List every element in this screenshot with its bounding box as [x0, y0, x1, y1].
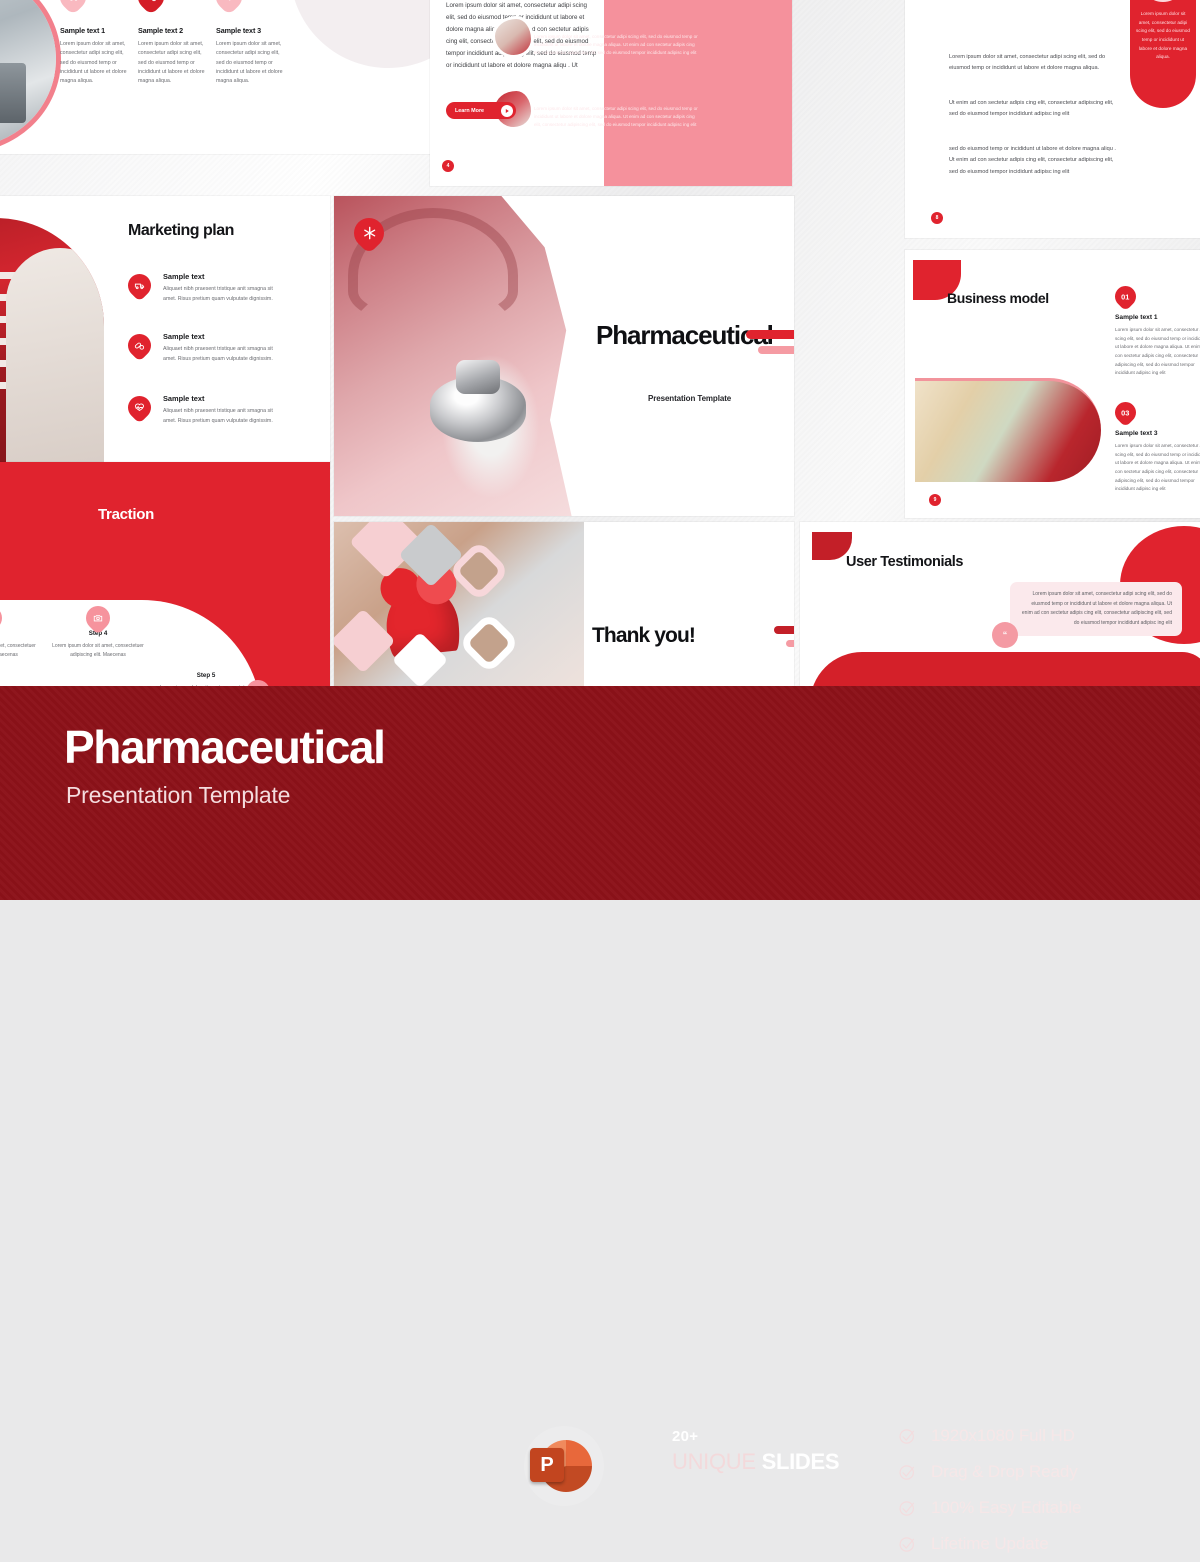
slide-count-number: 20+ [672, 1428, 839, 1445]
feature-row: Drag & Drop Ready [898, 1454, 1081, 1490]
slide-thumbnail-sample-features[interactable]: eiusmod temp or incididunt ut labore et … [0, 0, 440, 154]
step-title: Step 5 [152, 672, 260, 679]
feature-body: Lorem ipsum dolor sit amet, consectetur … [138, 40, 206, 86]
play-arrow-icon [501, 105, 513, 117]
business-item-body: Lorem ipsum dolor sit amet, consectetur … [1115, 326, 1200, 378]
banner-title: Pharmaceutical [64, 720, 384, 774]
check-icon [898, 1427, 917, 1446]
service-title: Service 1 [534, 94, 712, 101]
step-body: Lorem ipsum dolor sit amet, consectetuer… [0, 642, 44, 660]
feature-column: Sample text 3 Lorem ipsum dolor sit amet… [216, 26, 284, 86]
learn-more-button[interactable]: Learn More [446, 102, 516, 119]
business-item-title: Sample text 3 [1115, 430, 1200, 437]
stethoscope-head [430, 376, 526, 442]
traction-step: Step 4 Lorem ipsum dolor sit amet, conse… [44, 630, 152, 660]
bottom-wave-shape [810, 652, 1200, 690]
check-icon [898, 1535, 917, 1554]
slide-thumbnail-testimonials[interactable]: User Testimonials Lorem ipsum dolor sit … [800, 522, 1200, 690]
slide-thumbnail-hero-title[interactable]: Pharmaceutical Presentation Template [334, 196, 794, 516]
slide-thumbnail-market-validation[interactable]: Market validation Lorem ipsum dolor sit … [905, 0, 1200, 238]
marketing-item: Sample text Aliquaet nibh praesent trist… [128, 272, 322, 304]
slide-count-label: UNIQUE SLIDES [672, 1449, 839, 1475]
thank-you-title: Thank you! [592, 624, 695, 648]
heart-hands-photo [334, 522, 584, 690]
page-title: Marketing plan [128, 222, 234, 240]
hero-subtitle: Presentation Template [648, 394, 731, 403]
heartbeat-icon [211, 0, 248, 15]
step-body: Lorem ipsum dolor sit amet, consectetuer… [44, 642, 152, 660]
marketing-item-title: Sample text [163, 394, 322, 403]
business-item-title: Sample text 1 [1115, 314, 1200, 321]
feature-body: Lorem ipsum dolor sit amet, consectetur … [60, 40, 128, 86]
feature-title: Sample text 1 [60, 26, 128, 35]
item-number-badge: 03 [1111, 398, 1141, 428]
marketing-item-title: Sample text [163, 332, 322, 341]
check-icon [898, 1463, 917, 1482]
feature-body: Lorem ipsum dolor sit amet, consectetur … [216, 40, 284, 86]
paragraph: Ut enim ad con sectetur adipis cing elit… [949, 98, 1117, 121]
marketing-item-title: Sample text [163, 272, 322, 281]
marketing-item: Sample text Aliquaet nibh praesent trist… [128, 394, 322, 426]
banner-subtitle: Presentation Template [66, 782, 290, 809]
slide-thumbnail-traction[interactable]: Traction Step 3 Lorem ipsum dolor sit am… [0, 462, 330, 690]
money-stethoscope-photo [915, 378, 1101, 482]
pills-icon [123, 329, 156, 362]
traction-step: Step 3 Lorem ipsum dolor sit amet, conse… [0, 630, 44, 660]
page-title: Business model [947, 290, 1049, 306]
heartbeat-icon [123, 391, 156, 424]
check-icon [898, 1499, 917, 1518]
feature-title: Sample text 3 [216, 26, 284, 35]
pills-icon [133, 0, 170, 15]
accent-bar-light [786, 640, 794, 647]
ambulance-icon [123, 269, 156, 302]
service-item: Service 1 Lorem ipsum dolor sit amet, co… [534, 22, 712, 56]
quote-mark-icon: “ [992, 622, 1018, 648]
business-item: 01 Sample text 1 Lorem ipsum dolor sit a… [1115, 286, 1200, 378]
stat-value: 90% [1141, 0, 1185, 2]
service-item: Service 1 Lorem ipsum dolor sit amet, co… [534, 94, 712, 128]
slide-mosaic: eiusmod temp or incididunt ut labore et … [0, 0, 1200, 690]
feature-label: Drag & Drop Ready [931, 1462, 1078, 1482]
accent-bar [746, 330, 794, 339]
feature-label: 1920x1080 Full HD [931, 1426, 1075, 1446]
accent-bar [774, 626, 794, 634]
ambulance-icon [55, 0, 92, 15]
paragraph: sed do eiusmod temp or incididunt ut lab… [949, 144, 1117, 178]
stat-panel: 90% Lorem ipsum dolor sit amet, consecte… [1130, 0, 1196, 108]
slide-count-label-bold: SLIDES [762, 1449, 840, 1474]
service-body: Lorem ipsum dolor sit amet, consectetur … [534, 33, 700, 56]
feature-label: Lifetime Update [931, 1534, 1049, 1554]
feature-title: Sample text 2 [138, 26, 206, 35]
accent-bar-light [758, 346, 794, 354]
page-title: Traction [98, 506, 154, 523]
stat-body: Lorem ipsum dolor sit amet, consectetur … [1136, 10, 1190, 62]
feature-column: Sample text 1 Lorem ipsum dolor sit amet… [60, 26, 128, 86]
slide-count-block: 20+ UNIQUE SLIDES [672, 1428, 839, 1475]
business-item: 03 Sample text 3 Lorem ipsum dolor sit a… [1115, 402, 1200, 494]
lab-scientist-photo [0, 0, 56, 148]
service-body: Lorem ipsum dolor sit amet, consectetur … [534, 105, 700, 128]
page-number-badge: 9 [929, 494, 941, 506]
feature-label: 100% Easy Editable [931, 1498, 1081, 1518]
marketing-item-body: Aliquaet nibh praesent tristique anit sm… [163, 285, 283, 304]
powerpoint-letter: P [530, 1448, 564, 1482]
business-item-body: Lorem ipsum dolor sit amet, consectetur … [1115, 442, 1200, 494]
decorative-arc [290, 0, 440, 68]
page-title: User Testimonials [846, 554, 963, 570]
pharmacy-photo [0, 218, 104, 468]
slide-thumbnail-thank-you[interactable]: Thank you! [334, 522, 794, 690]
service-title: Service 1 [534, 22, 712, 29]
step-title: Step 3 [0, 630, 44, 637]
marketing-item-body: Aliquaet nibh praesent tristique anit sm… [163, 345, 283, 364]
feature-list: 1920x1080 Full HD Drag & Drop Ready 100%… [898, 1418, 1081, 1562]
powerpoint-icon: P [524, 1426, 604, 1506]
page-number-badge: 4 [442, 160, 454, 172]
marketing-item: Sample text Aliquaet nibh praesent trist… [128, 332, 322, 364]
promo-banner: Pharmaceutical Presentation Template P 2… [0, 686, 1200, 900]
slide-thumbnail-services[interactable]: Lorem ipsum dolor sit amet, consectetur … [430, 0, 792, 186]
testimonial-quote: Lorem ipsum dolor sit amet, consectetur … [1010, 582, 1182, 636]
slide-count-label-light: UNIQUE [672, 1449, 762, 1474]
service-image [492, 16, 534, 58]
page-number-badge: 8 [931, 212, 943, 224]
item-number-badge: 01 [1111, 282, 1141, 312]
marketing-item-body: Aliquaet nibh praesent tristique anit sm… [163, 407, 283, 426]
learn-more-label: Learn More [455, 108, 484, 114]
slide-thumbnail-marketing-plan[interactable]: Marketing plan Sample text Aliquaet nibh… [0, 196, 330, 468]
paragraph: Lorem ipsum dolor sit amet, consectetur … [949, 52, 1117, 75]
feature-column: Sample text 2 Lorem ipsum dolor sit amet… [138, 26, 206, 86]
feature-row: Lifetime Update [898, 1526, 1081, 1562]
feature-row: 100% Easy Editable [898, 1490, 1081, 1526]
feature-row: 1920x1080 Full HD [898, 1418, 1081, 1454]
slide-thumbnail-business-model[interactable]: Business model 01 Sample text 1 Lorem ip… [905, 250, 1200, 518]
